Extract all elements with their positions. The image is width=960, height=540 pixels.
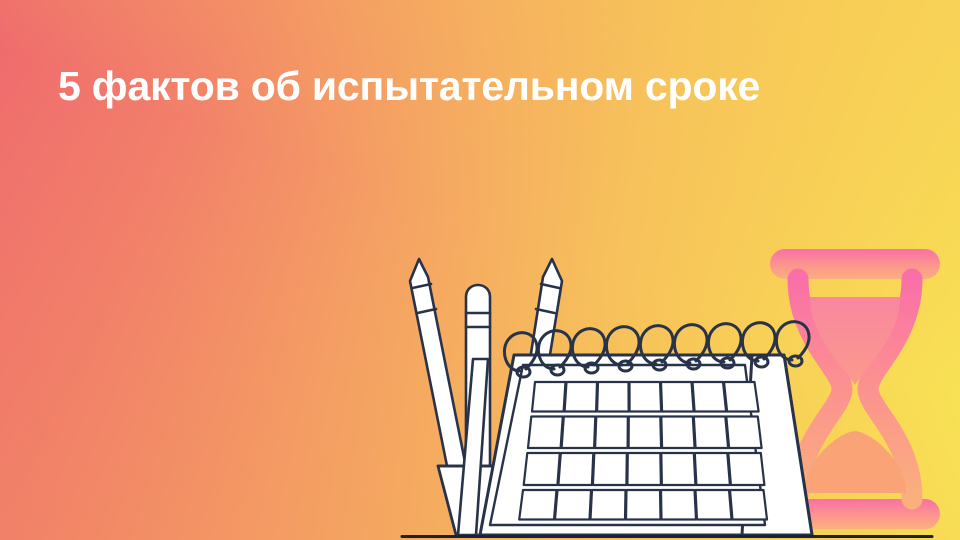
banner: 5 фактов об испытательном сроке — [0, 0, 960, 540]
page-title: 5 фактов об испытательном сроке — [58, 64, 960, 110]
desk-calendar-icon — [458, 322, 812, 535]
illustration-pencil-calendar-hourglass — [380, 241, 950, 540]
pencil-left-icon — [410, 259, 466, 471]
